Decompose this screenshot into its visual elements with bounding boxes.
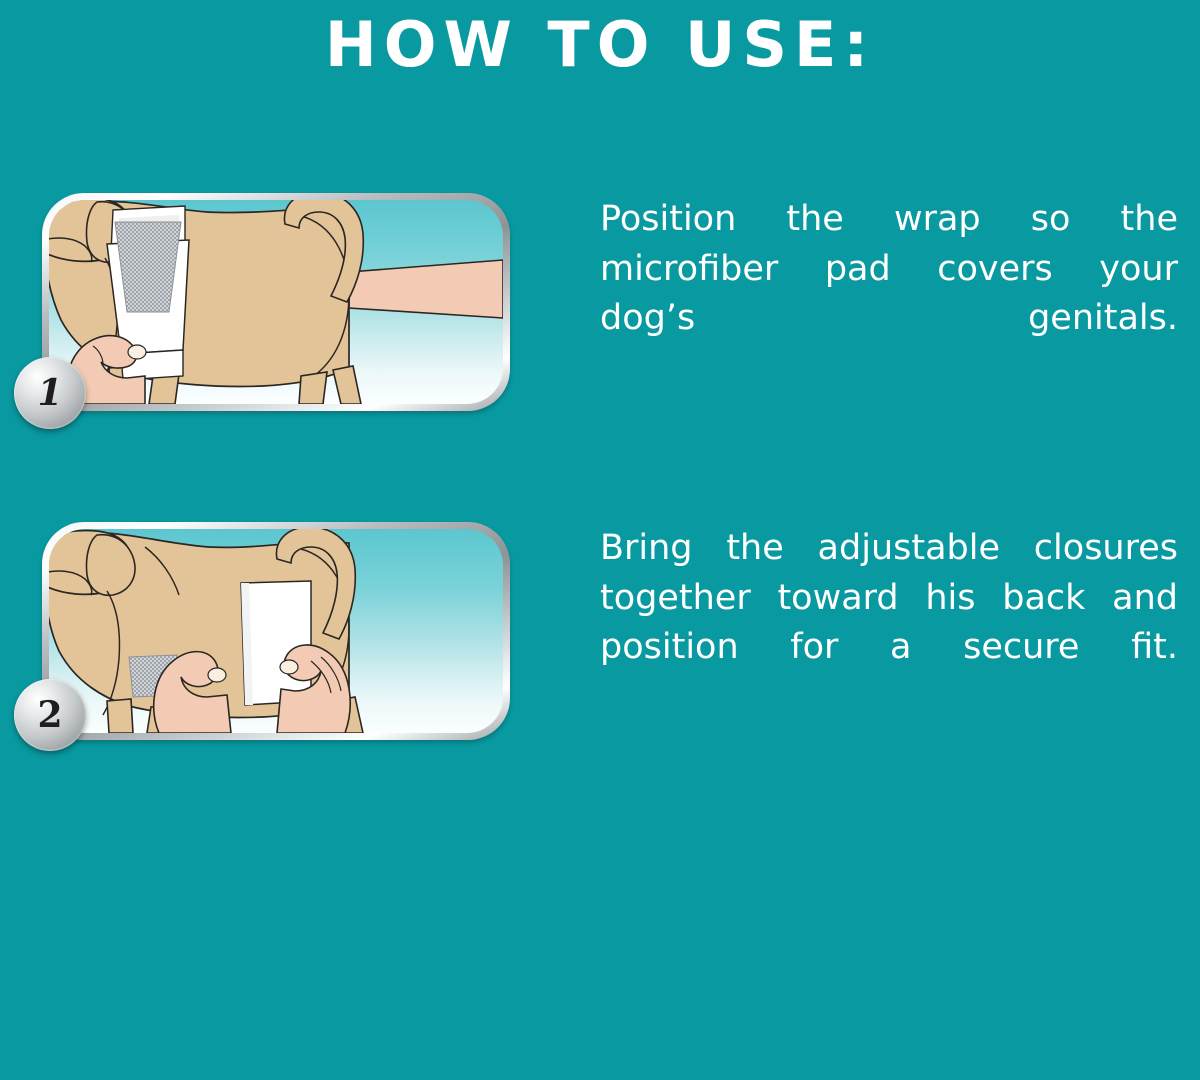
step-1-instruction-text: Position the wrap so the microfiber pad … [600,195,1178,394]
step-2: 2 Bring the adjustable closures together… [0,514,1200,754]
step-2-illustration-panel [42,522,510,740]
step-1: 1 Position the wrap so the microfiber pa… [0,185,1200,420]
step-1-illustration [49,200,503,404]
step-2-instruction-text: Bring the adjustable closures together t… [600,524,1178,723]
step-2-number: 2 [37,697,62,733]
human-arm [349,260,503,318]
step-2-number-badge: 2 [14,679,86,751]
dog-wrap-closure-illustration [49,529,503,733]
page-title: HOW TO USE: [0,14,1200,76]
step-1-illustration-panel [42,193,510,411]
step-1-number: 1 [37,375,62,411]
dog-wrap-positioning-illustration [49,200,503,404]
step-2-illustration [49,529,503,733]
step-1-number-badge: 1 [14,357,86,429]
